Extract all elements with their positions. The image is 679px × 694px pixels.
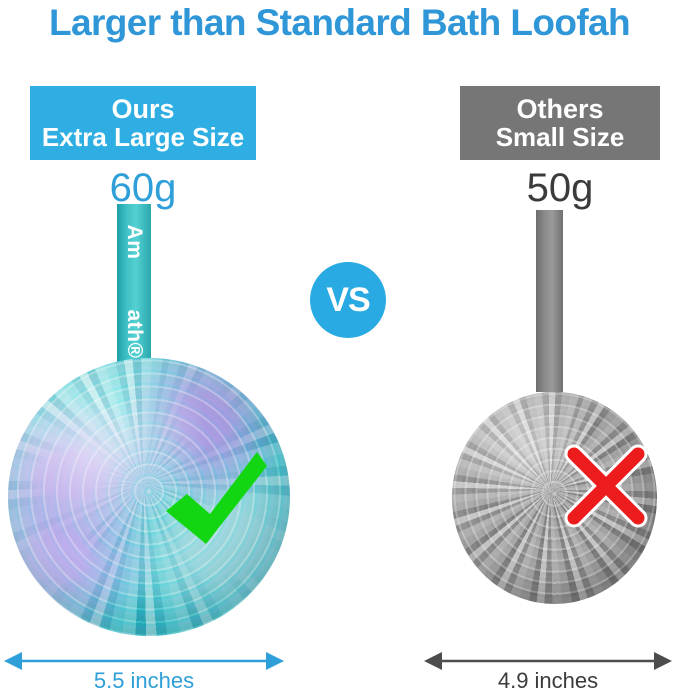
ours-strap-brand-text-bottom: ath® xyxy=(122,310,146,359)
ours-badge: Ours Extra Large Size xyxy=(30,86,256,160)
ours-badge-subtitle: Extra Large Size xyxy=(42,123,244,152)
red-cross-icon xyxy=(560,440,652,532)
others-measurement-label: 4.9 inches xyxy=(422,668,674,694)
ours-strap-brand-text-top: Am xyxy=(122,225,146,260)
others-weight-value: 50g xyxy=(460,166,660,211)
others-badge: Others Small Size xyxy=(460,86,660,160)
others-badge-subtitle: Small Size xyxy=(496,123,625,152)
product-comparison-infographic: Larger than Standard Bath Loofah Ours Ex… xyxy=(0,0,679,694)
ours-measurement-label: 5.5 inches xyxy=(2,668,286,694)
page-title: Larger than Standard Bath Loofah xyxy=(0,2,679,44)
vs-badge: VS xyxy=(310,262,386,338)
green-check-icon xyxy=(160,440,272,552)
ours-badge-title: Ours xyxy=(111,95,174,123)
others-loofah-strap xyxy=(536,210,563,392)
others-badge-title: Others xyxy=(516,95,603,123)
vs-badge-label: VS xyxy=(326,281,369,320)
